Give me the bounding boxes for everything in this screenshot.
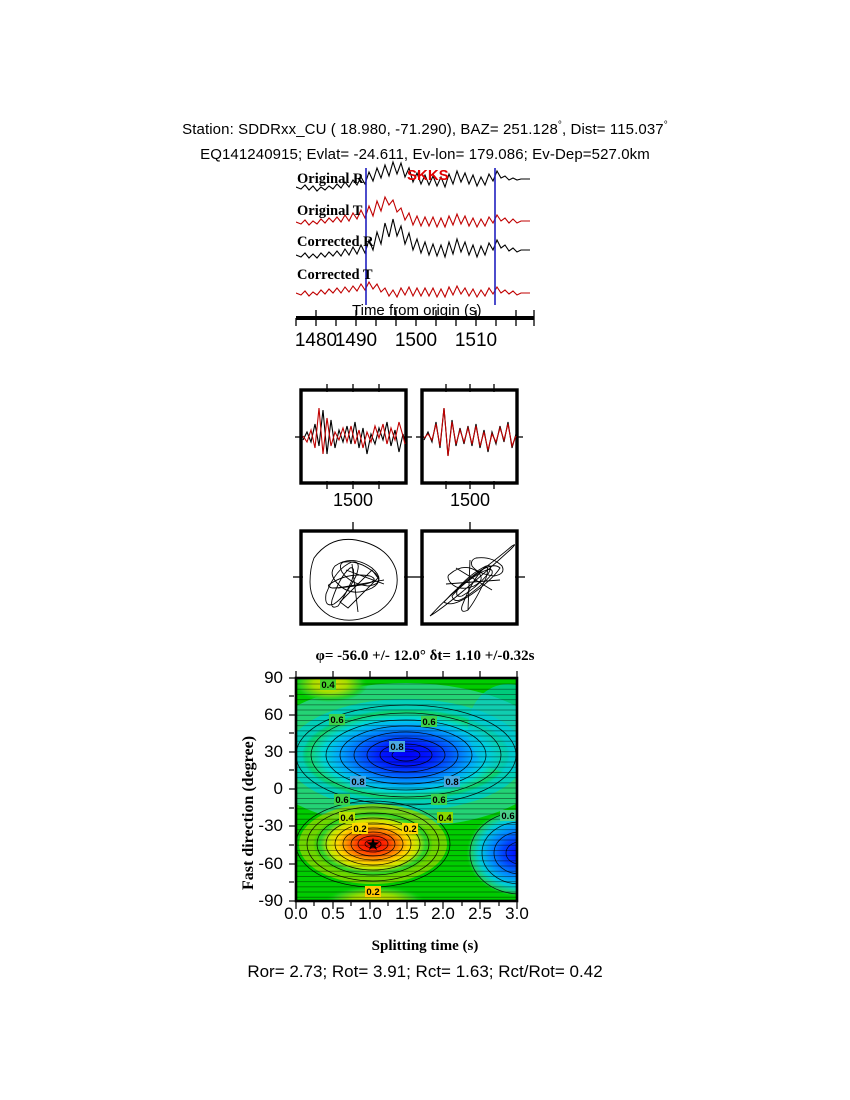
best-solution-star-marker: ★	[365, 835, 380, 854]
x-tick-2-5: 2.5	[460, 904, 500, 924]
contour-label-0-4-a: 0.4	[320, 679, 336, 691]
particle-motion-corrected	[414, 522, 525, 624]
contour-label-0-8-a: 0.8	[389, 741, 405, 753]
svg-text:0.8: 0.8	[390, 742, 403, 753]
svg-text:0.8: 0.8	[351, 777, 364, 788]
x-tick-3-0: 3.0	[497, 904, 537, 924]
svg-text:0.2: 0.2	[366, 887, 379, 898]
quality-metrics-footer: Ror= 2.73; Rot= 3.91; Rct= 1.63; Rct/Rot…	[0, 962, 850, 982]
svg-text:0.2: 0.2	[403, 824, 416, 835]
degree-sign-dist: °	[664, 120, 668, 131]
contour-label-0-2-a: 0.2	[352, 823, 368, 835]
trace-label-original-t: Original T	[297, 203, 362, 220]
svg-text:0.4: 0.4	[340, 813, 354, 824]
trace-label-original-r: Original R	[297, 171, 363, 188]
contour-label-0-6-c: 0.6	[334, 794, 350, 806]
station-header-line: Station: SDDRxx_CU ( 18.980, -71.290), B…	[0, 120, 850, 138]
station-info-text: Station: SDDRxx_CU ( 18.980, -71.290), B…	[182, 121, 558, 138]
contour-label-0-8-b: 0.8	[350, 776, 366, 788]
time-axis-title: Time from origin (s)	[352, 302, 481, 319]
particle-motion-uncorrected	[293, 522, 414, 624]
svg-text:0.2: 0.2	[353, 824, 366, 835]
x-tick-0-5: 0.5	[313, 904, 353, 924]
wave-slow-left	[303, 408, 405, 454]
y-tick-0: 0	[255, 779, 283, 799]
wave-slow-right	[424, 408, 516, 456]
particle-motion-boxes	[0, 518, 850, 648]
splitting-analysis-figure: Station: SDDRxx_CU ( 18.980, -71.290), B…	[0, 0, 850, 1100]
contour-label-0-4-b: 0.4	[339, 812, 355, 824]
x-tick-1-5: 1.5	[387, 904, 427, 924]
x-tick-1-0: 1.0	[350, 904, 390, 924]
wave-box-tick-right: 1500	[430, 490, 510, 511]
error-surface-contour-plot: ★ 0.4 0.6 0.6 0.8 0.8 0.8 0.6 0.6 0.4 0.…	[0, 668, 850, 918]
contour-label-0-6-b: 0.6	[421, 716, 437, 728]
y-tick-30: 30	[255, 742, 283, 762]
x-tick-2-0: 2.0	[423, 904, 463, 924]
contour-label-0-8-c: 0.8	[444, 776, 460, 788]
fast-slow-box-uncorrected	[295, 384, 412, 489]
trace-label-corrected-r: Corrected R	[297, 234, 374, 251]
contour-label-0-6-e: 0.6	[500, 810, 516, 822]
waveform-panel	[0, 160, 850, 410]
x-tick-0-0: 0.0	[276, 904, 316, 924]
contour-label-0-6-a: 0.6	[329, 714, 345, 726]
contour-label-0-2-b: 0.2	[402, 823, 418, 835]
svg-text:0.8: 0.8	[445, 777, 458, 788]
trace-label-corrected-t: Corrected T	[297, 267, 373, 284]
fast-slow-wave-boxes	[0, 382, 850, 502]
y-axis-title: Fast direction (degree)	[240, 736, 258, 890]
svg-text:0.4: 0.4	[321, 680, 335, 691]
svg-text:0.6: 0.6	[501, 811, 514, 822]
svg-text:0.6: 0.6	[422, 717, 435, 728]
contour-label-0-4-c: 0.4	[437, 812, 453, 824]
contour-label-0-6-d: 0.6	[431, 794, 447, 806]
x-axis-title: Splitting time (s)	[0, 938, 850, 955]
svg-text:0.6: 0.6	[432, 795, 445, 806]
contour-label-0-2-c: 0.2	[365, 886, 381, 898]
y-tick-60: 60	[255, 705, 283, 725]
y-tick-90: 90	[255, 668, 283, 688]
phase-label-skks: SKKS	[407, 167, 449, 184]
distance-info-text: , Dist= 115.037	[562, 121, 664, 138]
svg-text:0.4: 0.4	[438, 813, 452, 824]
svg-text:0.6: 0.6	[330, 715, 343, 726]
splitting-result-title: φ= -56.0 +/- 12.0° δt= 1.10 +/-0.32s	[0, 648, 850, 665]
time-tick-1510: 1510	[436, 330, 516, 352]
fast-slow-box-corrected	[416, 384, 523, 489]
svg-text:0.6: 0.6	[335, 795, 348, 806]
wave-box-tick-left: 1500	[313, 490, 393, 511]
